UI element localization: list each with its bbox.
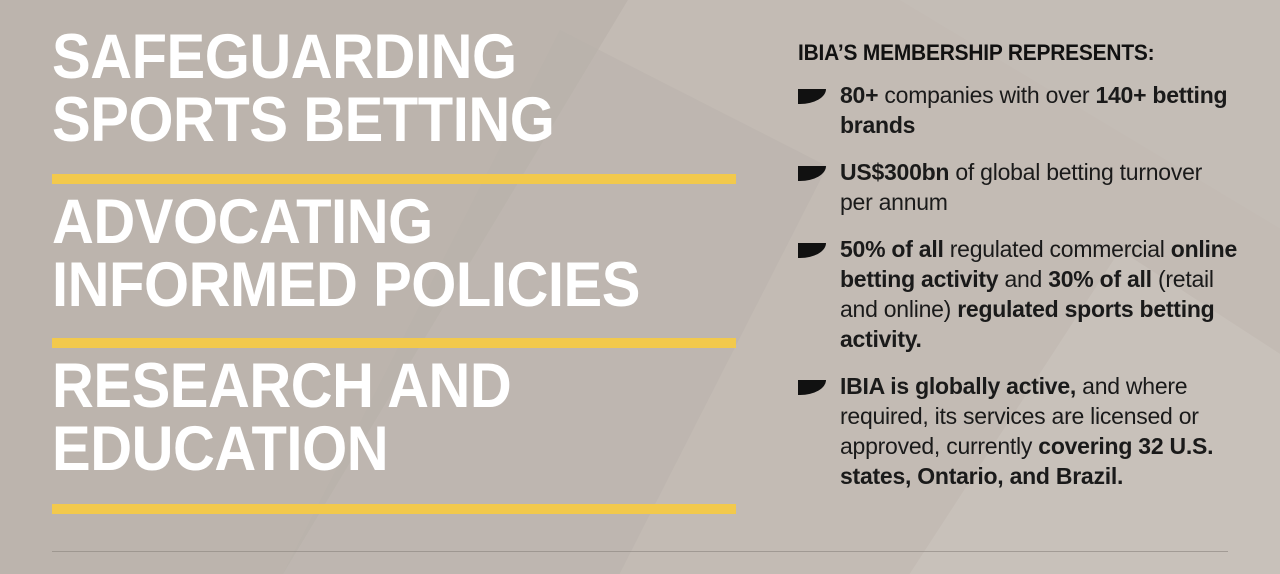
footer-divider <box>52 551 1228 552</box>
membership-heading: IBIA’S MEMBERSHIP REPRESENTS: <box>798 40 1216 66</box>
headline-block-1: SAFEGUARDING SPORTS BETTING <box>52 26 736 152</box>
list-item: IBIA is globally active, and where requi… <box>798 371 1238 491</box>
half-rounded-bullet-icon <box>798 166 826 181</box>
list-item: US$300bn of global betting turnover per … <box>798 157 1238 217</box>
headline-block-2: ADVOCATING INFORMED POLICIES <box>52 191 736 317</box>
headline-block-3: RESEARCH AND EDUCATION <box>52 355 736 481</box>
half-rounded-bullet-icon <box>798 243 826 258</box>
headline-column: SAFEGUARDING SPORTS BETTING ADVOCATING I… <box>52 0 752 574</box>
list-item-text: US$300bn of global betting turnover per … <box>840 157 1238 217</box>
headline-advocating-informed-policies: ADVOCATING INFORMED POLICIES <box>52 191 681 317</box>
list-item: 80+ companies with over 140+ betting bra… <box>798 80 1238 140</box>
half-rounded-bullet-icon <box>798 380 826 395</box>
membership-facts-column: IBIA’S MEMBERSHIP REPRESENTS: 80+ compan… <box>798 40 1238 508</box>
headline-safeguarding-sports-betting: SAFEGUARDING SPORTS BETTING <box>52 26 681 152</box>
accent-rule-3 <box>52 504 736 514</box>
accent-rule-2 <box>52 338 736 348</box>
half-rounded-bullet-icon <box>798 89 826 104</box>
accent-rule-1 <box>52 174 736 184</box>
headline-research-and-education: RESEARCH AND EDUCATION <box>52 355 681 481</box>
list-item: 50% of all regulated commercial online b… <box>798 234 1238 354</box>
list-item-text: IBIA is globally active, and where requi… <box>840 371 1238 491</box>
slide-canvas: SAFEGUARDING SPORTS BETTING ADVOCATING I… <box>0 0 1280 574</box>
list-item-text: 80+ companies with over 140+ betting bra… <box>840 80 1238 140</box>
list-item-text: 50% of all regulated commercial online b… <box>840 234 1238 354</box>
